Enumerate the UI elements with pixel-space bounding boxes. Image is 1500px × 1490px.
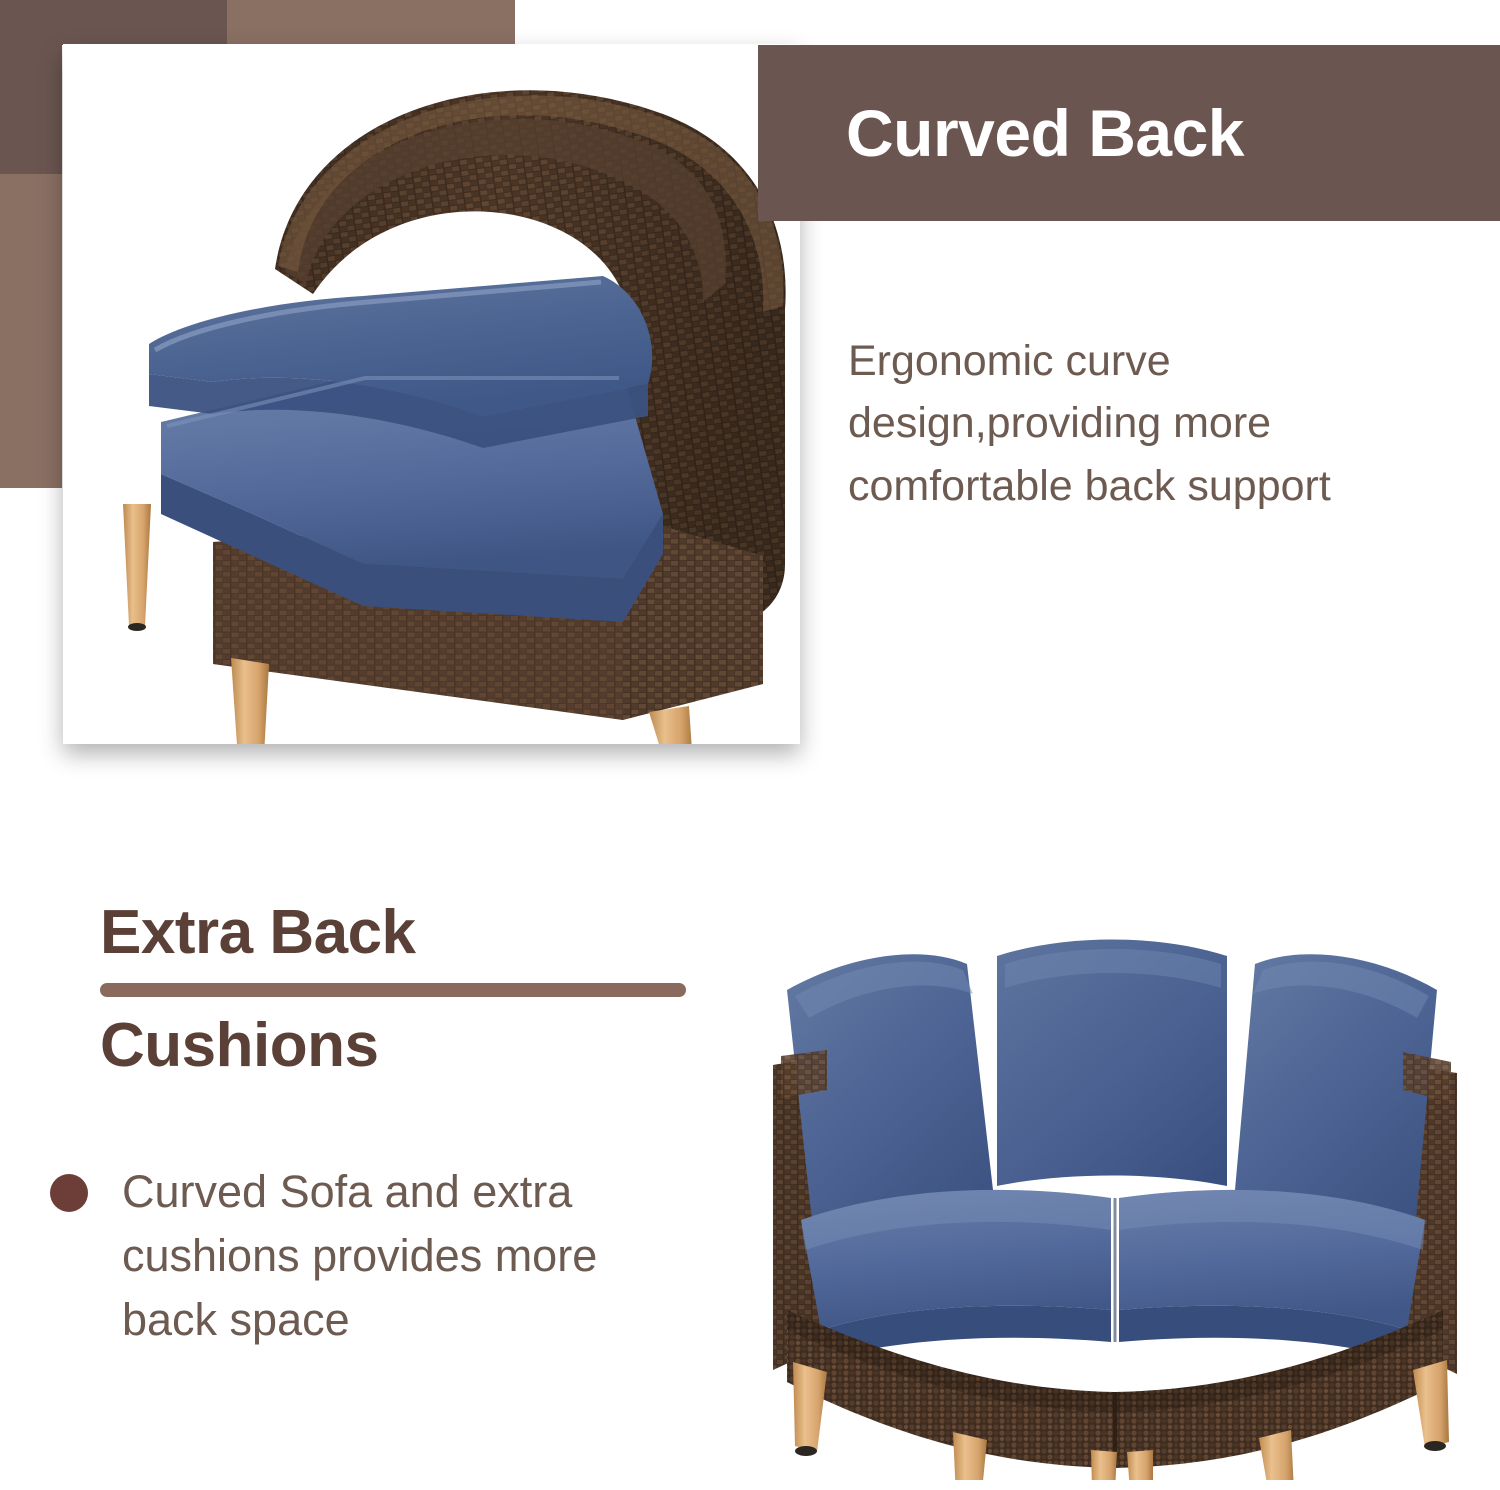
curved-back-chair-illustration: [63, 44, 800, 744]
section-two-heading-line-2: Cushions: [100, 1013, 700, 1078]
bullet-circle-icon: [50, 1174, 88, 1212]
sofa-leg-center-inner-left: [1091, 1450, 1117, 1480]
description-line-1: Ergonomic curve: [848, 330, 1458, 392]
decor-bar-left-light: [0, 174, 62, 488]
section-one-description: Ergonomic curve design,providing more co…: [848, 330, 1458, 517]
bullet-line-1: Curved Sofa and extra: [122, 1160, 597, 1224]
product-photo-curved-sofa: [735, 890, 1495, 1480]
chair-leg-front-left: [231, 658, 269, 744]
section-two-divider-rule: [100, 983, 686, 997]
description-line-2: design,providing more: [848, 392, 1458, 454]
bullet-line-3: back space: [122, 1288, 597, 1352]
infographic-page: Curved Back Ergonomic curve design,provi…: [0, 0, 1500, 1490]
bullet-text: Curved Sofa and extra cushions provides …: [122, 1160, 597, 1352]
decor-bar-top-light: [227, 0, 515, 45]
product-photo-curved-back-chair: [63, 44, 800, 744]
sofa-leg-center-inner-right: [1127, 1450, 1153, 1480]
curved-sofa-illustration: [735, 890, 1495, 1480]
description-line-3: comfortable back support: [848, 455, 1458, 517]
section-one-banner: Curved Back: [758, 45, 1500, 221]
section-two-bullet-item: Curved Sofa and extra cushions provides …: [50, 1160, 710, 1352]
sofa-leg-center-left: [953, 1432, 987, 1480]
section-two-heading: Extra Back Cushions: [100, 900, 700, 1078]
decor-bar-left-dark: [0, 0, 62, 174]
section-two-heading-line-1: Extra Back: [100, 900, 700, 965]
section-one-title: Curved Back: [846, 95, 1244, 171]
bullet-line-2: cushions provides more: [122, 1224, 597, 1288]
